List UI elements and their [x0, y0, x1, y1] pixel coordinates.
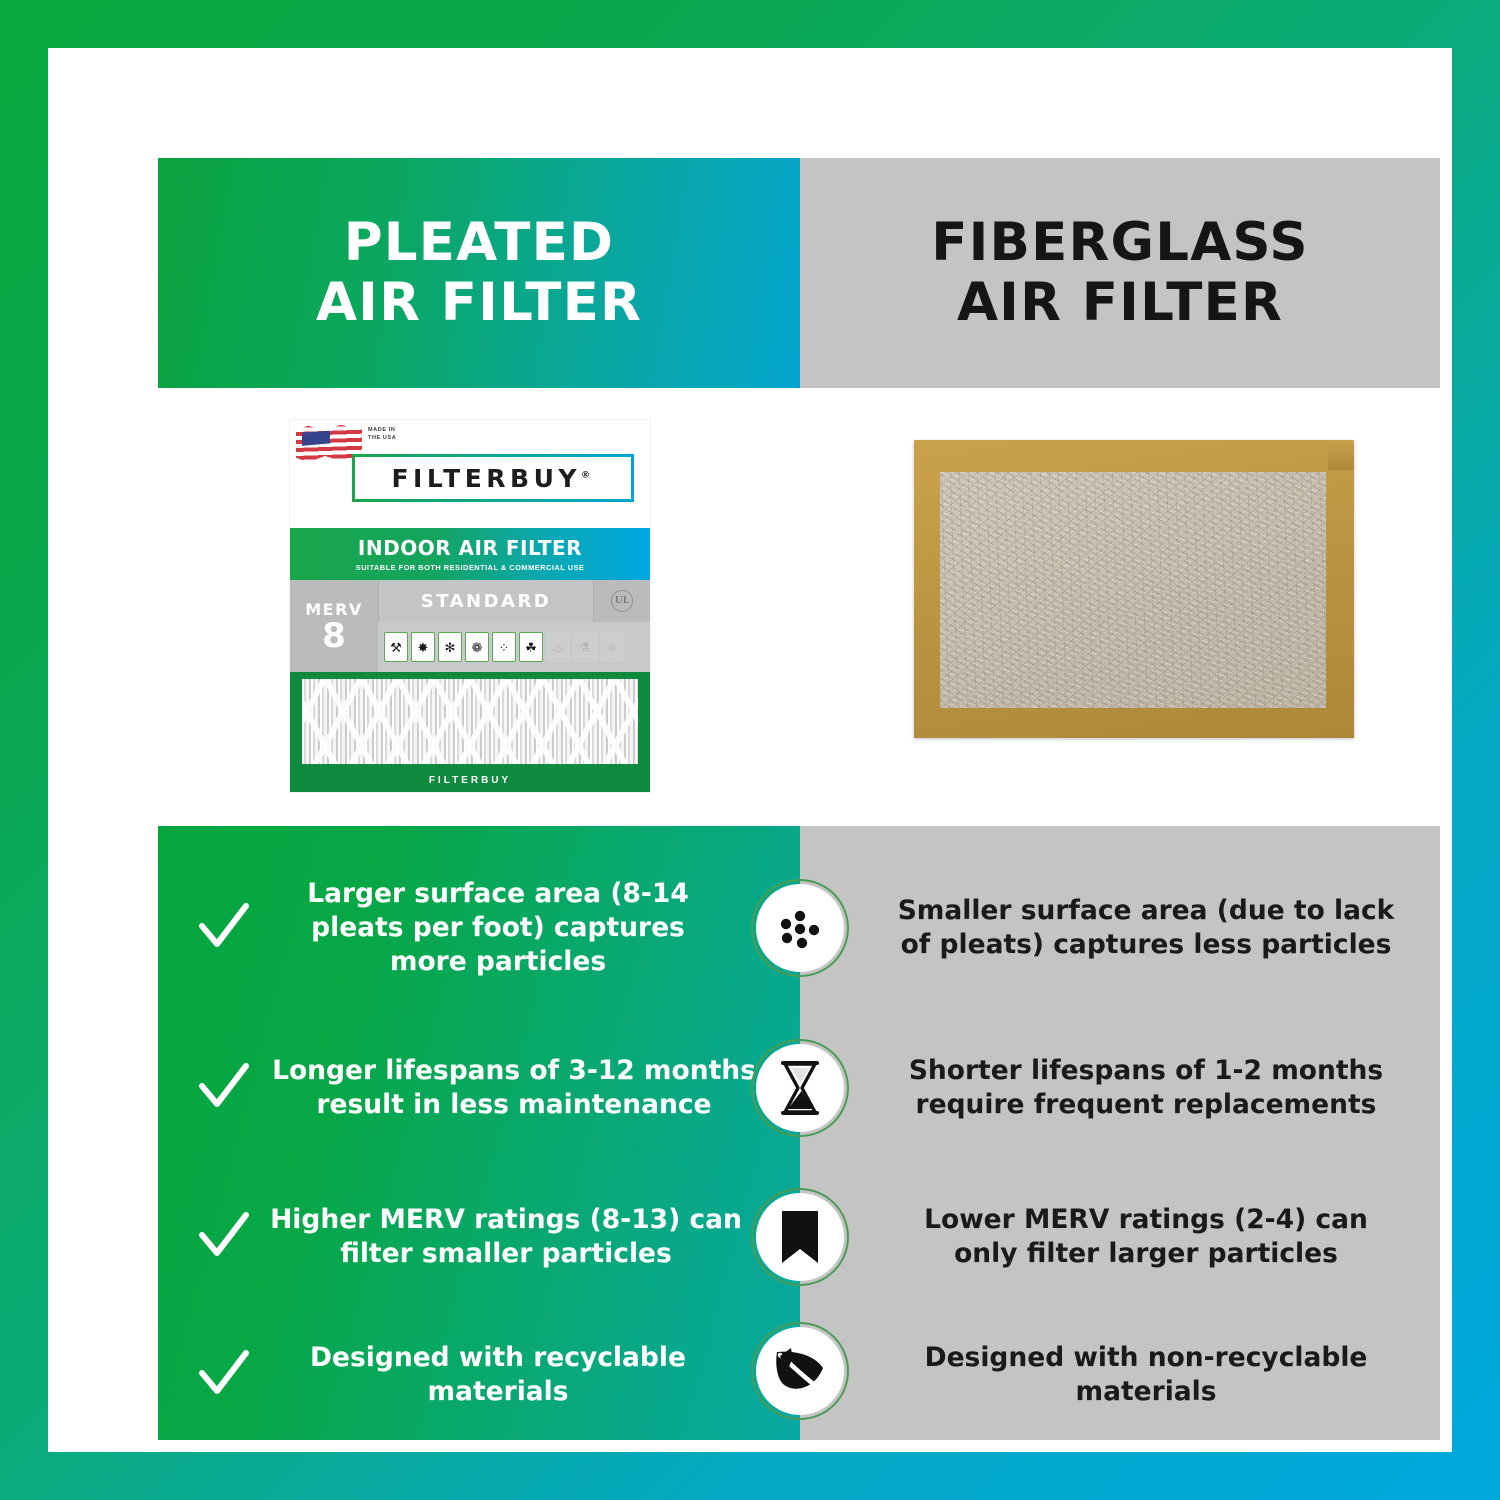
row-3-pleated-text: Higher MERV ratings (8-13) can filter sm…: [270, 1203, 788, 1271]
smoke-glyph: ♨: [552, 641, 564, 654]
gradient-frame: PLEATED AIR FILTER FIBERGLASS AIR FILTER: [0, 0, 1500, 1500]
leaf-icon-disc: [756, 1327, 844, 1415]
mold-icon: ❁: [465, 632, 489, 662]
filter-footer-brand: FILTERBUY: [290, 775, 650, 786]
merv-block: MERV 8: [290, 580, 378, 672]
band-sub-text: SUITABLE FOR BOTH RESIDENTIAL & COMMERCI…: [356, 563, 585, 572]
pet-dander-icon: ☘: [519, 632, 543, 662]
capability-icon-strip: ⚒ ✸ ✻ ❁ ⁘ ☘ ♨ ⚗ ⚛: [378, 622, 650, 672]
header-fiberglass-line1: FIBERGLASS: [931, 212, 1309, 273]
ul-mark-icon: UL: [611, 590, 633, 612]
row-2-pleated: Longer lifespans of 3-12 months result i…: [158, 1054, 800, 1122]
pollen-glyph: ✻: [445, 641, 456, 654]
row-4-pleated-text: Designed with recyclable materials: [270, 1341, 788, 1409]
flag-union-icon: [302, 430, 330, 448]
check-icon: [196, 1209, 252, 1265]
brand-name: FILTERBUY: [391, 464, 581, 493]
row-1-pleated-text: Larger surface area (8-14 pleats per foo…: [270, 877, 788, 979]
row-2-fiberglass-text: Shorter lifespans of 1-2 months require …: [800, 1054, 1440, 1122]
diamond-support-grid: [302, 679, 638, 764]
made-in-line1: MADE IN: [368, 427, 396, 435]
row-4-fiberglass-text: Designed with non-recyclable materials: [800, 1341, 1440, 1409]
bookmark-icon: [751, 1188, 849, 1286]
tier-label: STANDARD: [378, 580, 594, 622]
hourglass-icon: [751, 1039, 849, 1137]
smoke-icon: ♨: [546, 632, 570, 662]
bacteria-icon: ⚗: [573, 632, 597, 662]
comparison-rows: Larger surface area (8-14 pleats per foo…: [158, 826, 1440, 1440]
merv-value: 8: [322, 619, 346, 653]
header-pleated-title: PLEATED AIR FILTER: [316, 213, 642, 334]
bacteria-glyph: ⚗: [579, 641, 591, 654]
headers-row: PLEATED AIR FILTER FIBERGLASS AIR FILTER: [158, 158, 1440, 388]
band-main-text: INDOOR AIR FILTER: [358, 536, 582, 560]
spec-strip: MERV 8 STANDARD UL ⚒ ✸ ✻ ❁ ⁘ ☘ ♨: [290, 580, 650, 672]
pleated-media-area: FILTERBUY: [290, 672, 650, 792]
check-icon: [196, 1060, 252, 1116]
hourglass-icon-disc: [756, 1044, 844, 1132]
header-fiberglass-line2: AIR FILTER: [957, 272, 1283, 333]
dust-lint-icon: ⚒: [384, 632, 408, 662]
content-canvas: PLEATED AIR FILTER FIBERGLASS AIR FILTER: [48, 48, 1452, 1452]
check-icon: [196, 1347, 252, 1403]
particles-icon-disc: [756, 884, 844, 972]
pleated-filter-product-image: MADE IN THE USA FILTERBUY® INDOOR AIR FI…: [290, 420, 650, 792]
particles-icon: [751, 879, 849, 977]
made-in-line2: THE USA: [368, 435, 396, 443]
ul-listed-badge: UL: [594, 580, 650, 622]
filterbuy-logo-text: FILTERBUY®: [391, 464, 594, 493]
dust-mites-glyph: ✸: [418, 641, 429, 654]
virus-icon: ⚛: [600, 632, 624, 662]
bookmark-icon-disc: [756, 1193, 844, 1281]
pleated-label-top: MADE IN THE USA FILTERBUY®: [290, 420, 650, 528]
comparison-panel: Larger surface area (8-14 pleats per foo…: [158, 826, 1440, 1440]
dander-icon: ⁘: [492, 632, 516, 662]
header-pleated: PLEATED AIR FILTER: [158, 158, 800, 388]
row-3-pleated: Higher MERV ratings (8-13) can filter sm…: [158, 1203, 800, 1271]
row-3-fiberglass-text: Lower MERV ratings (2-4) can only filter…: [800, 1203, 1440, 1271]
made-in-usa-text: MADE IN THE USA: [368, 427, 396, 443]
header-pleated-line1: PLEATED: [344, 212, 614, 273]
mold-glyph: ❁: [472, 641, 483, 654]
brand-tm: ®: [581, 470, 595, 480]
virus-glyph: ⚛: [606, 641, 618, 654]
row-1-fiberglass-text: Smaller surface area (due to lack of ple…: [800, 894, 1440, 962]
filterbuy-logo-box: FILTERBUY®: [352, 454, 634, 502]
check-icon: [196, 900, 252, 956]
cardboard-corner-tab: [1328, 440, 1354, 470]
leaf-icon: [751, 1322, 849, 1420]
header-fiberglass: FIBERGLASS AIR FILTER: [800, 158, 1440, 388]
indoor-air-filter-band: INDOOR AIR FILTER SUITABLE FOR BOTH RESI…: [290, 528, 650, 580]
pet-dander-glyph: ☘: [525, 641, 537, 654]
pollen-icon: ✻: [438, 632, 462, 662]
header-fiberglass-title: FIBERGLASS AIR FILTER: [931, 213, 1309, 334]
dust-mites-icon: ✸: [411, 632, 435, 662]
fiberglass-filter-product-image: [914, 440, 1354, 738]
row-2-pleated-text: Longer lifespans of 3-12 months result i…: [270, 1054, 788, 1122]
dust-lint-glyph: ⚒: [390, 641, 402, 654]
dander-glyph: ⁘: [499, 641, 510, 654]
fiberglass-media-texture: [940, 472, 1326, 708]
product-images-row: MADE IN THE USA FILTERBUY® INDOOR AIR FI…: [158, 388, 1440, 826]
header-pleated-line2: AIR FILTER: [316, 272, 642, 333]
row-4-pleated: Designed with recyclable materials: [158, 1341, 800, 1409]
row-1-pleated: Larger surface area (8-14 pleats per foo…: [158, 877, 800, 979]
